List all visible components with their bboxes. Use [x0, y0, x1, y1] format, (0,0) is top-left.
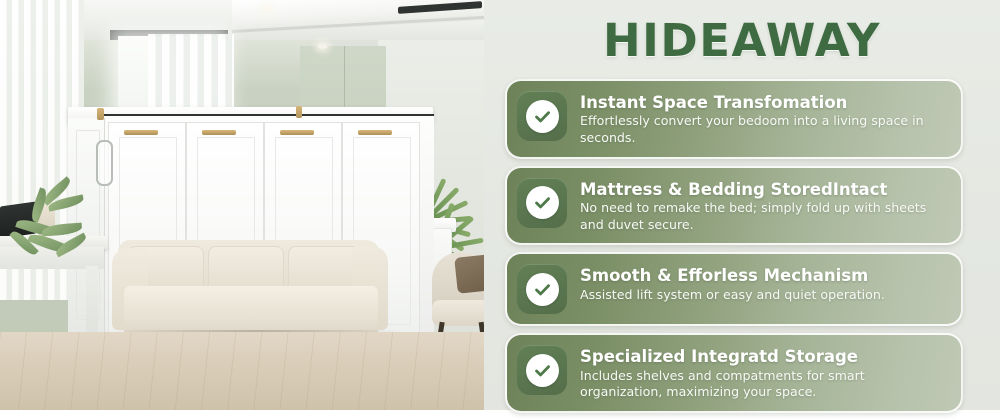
feature-card-3[interactable]: Smooth & Efforless Mechanism Assisted li…	[505, 252, 963, 326]
cabinet-hinge	[96, 140, 113, 186]
cabinet-latch	[296, 106, 302, 118]
page-title: HIDEAWAY	[484, 14, 1000, 67]
cabinet-handle	[202, 130, 236, 135]
feature-description: No need to remake the bed; simply fold u…	[580, 200, 947, 233]
feature-title: Specialized Integratd Storage	[580, 347, 947, 366]
feature-card-2[interactable]: Mattress & Bedding StoredIntact No need …	[505, 166, 963, 246]
feature-description: Assisted lift system or easy and quiet o…	[580, 287, 885, 304]
cabinet-handle	[280, 130, 314, 135]
cabinet-latch	[97, 108, 104, 120]
feature-list: Instant Space Transfomation Effortlessly…	[505, 79, 963, 420]
feature-text: Smooth & Efforless Mechanism Assisted li…	[580, 264, 885, 303]
feature-card-1[interactable]: Instant Space Transfomation Effortlessly…	[505, 79, 963, 159]
check-badge	[517, 345, 567, 395]
feature-title: Mattress & Bedding StoredIntact	[580, 180, 947, 199]
armchair-pillow	[454, 254, 484, 294]
check-circle-icon	[526, 186, 559, 219]
check-badge	[517, 264, 567, 314]
check-circle-icon	[526, 100, 559, 133]
room-photo	[0, 0, 484, 410]
wood-floor	[0, 332, 484, 410]
feature-description: Effortlessly convert your bedoom into a …	[580, 113, 947, 146]
feature-text: Mattress & Bedding StoredIntact No need …	[580, 178, 947, 234]
hideaway-feature-banner: HIDEAWAY Instant Space Transfomation Eff…	[0, 0, 1000, 410]
feature-panel: HIDEAWAY Instant Space Transfomation Eff…	[484, 0, 1000, 410]
ceiling-downlight	[262, 6, 271, 11]
check-circle-icon	[526, 273, 559, 306]
feature-text: Specialized Integratd Storage Includes s…	[580, 345, 947, 401]
desk-leg	[86, 266, 98, 340]
check-circle-icon	[526, 354, 559, 387]
feature-description: Includes shelves and compatments for sma…	[580, 368, 947, 401]
check-badge	[517, 178, 567, 228]
ceiling-downlight	[318, 44, 327, 49]
feature-title: Smooth & Efforless Mechanism	[580, 266, 885, 285]
feature-text: Instant Space Transfomation Effortlessly…	[580, 91, 947, 147]
feature-card-4[interactable]: Specialized Integratd Storage Includes s…	[505, 333, 963, 413]
cabinet-handle	[124, 130, 158, 135]
cabinet-handle	[358, 130, 392, 135]
check-badge	[517, 91, 567, 141]
feature-title: Instant Space Transfomation	[580, 93, 947, 112]
floor-plant	[8, 178, 98, 258]
